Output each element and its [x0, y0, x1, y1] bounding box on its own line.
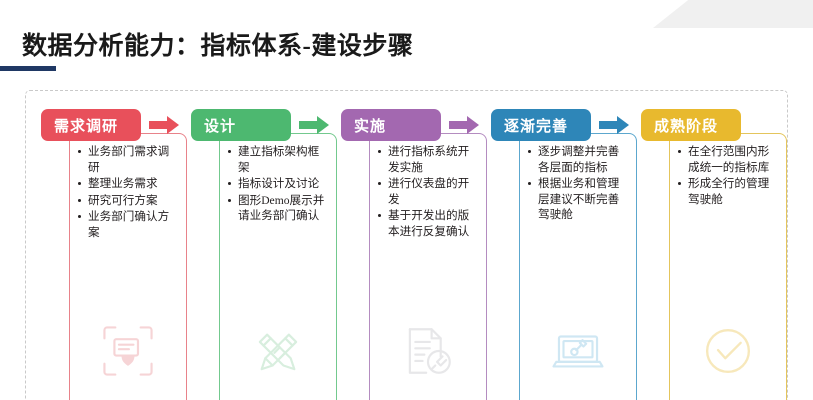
- page-title: 数据分析能力：指标体系-建设步骤: [22, 26, 413, 62]
- bullet-item: 逐步调整并完善各层面的指标: [526, 144, 629, 175]
- step-header-4[interactable]: 逐渐完善: [491, 109, 591, 141]
- step-card-4: 逐步调整并完善各层面的指标根据业务和管理层建议不断完善驾驶舱: [519, 133, 637, 400]
- step-card-2: 建立指标架构框架指标设计及讨论图形Demo展示并请业务部门确认: [219, 133, 337, 400]
- step-arrow-4: [599, 116, 629, 134]
- bullet-item: 根据业务和管理层建议不断完善驾驶舱: [526, 176, 629, 223]
- step-header-5[interactable]: 成熟阶段: [641, 109, 741, 141]
- check-circle-icon: [699, 322, 757, 380]
- bullet-item: 业务部门确认方案: [76, 209, 179, 240]
- document-scan-icon: [99, 322, 157, 380]
- step-bullet-list-2: 建立指标架构框架指标设计及讨论图形Demo展示并请业务部门确认: [220, 134, 336, 224]
- process-step-5: 成熟阶段在全行范围内形成统一的指标库形成全行的管理驾驶舱: [641, 91, 791, 400]
- process-step-2: 设计 建立指标架构框架指标设计及讨论图形Demo展示并请业务部门确认: [191, 91, 341, 400]
- step-arrow-2: [299, 116, 329, 134]
- bullet-item: 图形Demo展示并请业务部门确认: [226, 193, 329, 224]
- bullet-item: 基于开发出的版本进行反复确认: [376, 208, 479, 239]
- process-step-3: 实施 进行指标系统开发实施进行仪表盘的开发基于开发出的版本进行反复确认: [341, 91, 491, 400]
- title-accent-bar: [0, 66, 56, 71]
- step-card-5: 在全行范围内形成统一的指标库形成全行的管理驾驶舱: [669, 133, 787, 400]
- step-bullet-list-4: 逐步调整并完善各层面的指标根据业务和管理层建议不断完善驾驶舱: [520, 134, 636, 223]
- step-arrow-1: [149, 116, 179, 134]
- step-bullet-list-5: 在全行范围内形成统一的指标库形成全行的管理驾驶舱: [670, 134, 786, 207]
- bullet-item: 业务部门需求调研: [76, 144, 179, 175]
- bullet-item: 研究可行方案: [76, 193, 179, 209]
- step-bullet-list-1: 业务部门需求调研整理业务需求研究可行方案业务部门确认方案: [70, 134, 186, 240]
- bullet-item: 指标设计及讨论: [226, 176, 329, 192]
- step-bullet-list-3: 进行指标系统开发实施进行仪表盘的开发基于开发出的版本进行反复确认: [370, 134, 486, 239]
- bullet-item: 整理业务需求: [76, 176, 179, 192]
- step-card-3: 进行指标系统开发实施进行仪表盘的开发基于开发出的版本进行反复确认: [369, 133, 487, 400]
- bullet-item: 在全行范围内形成统一的指标库: [676, 144, 779, 175]
- slide-root: 数据分析能力：指标体系-建设步骤 需求调研 业务部门需求调研整理业务需求研究可行…: [0, 0, 813, 400]
- step-card-1: 业务部门需求调研整理业务需求研究可行方案业务部门确认方案: [69, 133, 187, 400]
- process-step-4: 逐渐完善 逐步调整并完善各层面的指标根据业务和管理层建议不断完善驾驶舱: [491, 91, 641, 400]
- bullet-item: 建立指标架构框架: [226, 144, 329, 175]
- pencil-ruler-icon: [249, 322, 307, 380]
- process-step-1: 需求调研 业务部门需求调研整理业务需求研究可行方案业务部门确认方案: [41, 91, 191, 400]
- step-header-1[interactable]: 需求调研: [41, 109, 141, 141]
- step-arrow-3: [449, 116, 479, 134]
- step-header-2[interactable]: 设计: [191, 109, 291, 141]
- laptop-wrench-icon: [549, 322, 607, 380]
- bullet-item: 进行仪表盘的开发: [376, 176, 479, 207]
- process-flow-container: 需求调研 业务部门需求调研整理业务需求研究可行方案业务部门确认方案 设计 建立指…: [25, 90, 788, 400]
- corner-banner-decoration: [653, 0, 813, 28]
- bullet-item: 进行指标系统开发实施: [376, 144, 479, 175]
- bullet-item: 形成全行的管理驾驶舱: [676, 176, 779, 207]
- step-header-3[interactable]: 实施: [341, 109, 441, 141]
- document-wrench-icon: [399, 322, 457, 380]
